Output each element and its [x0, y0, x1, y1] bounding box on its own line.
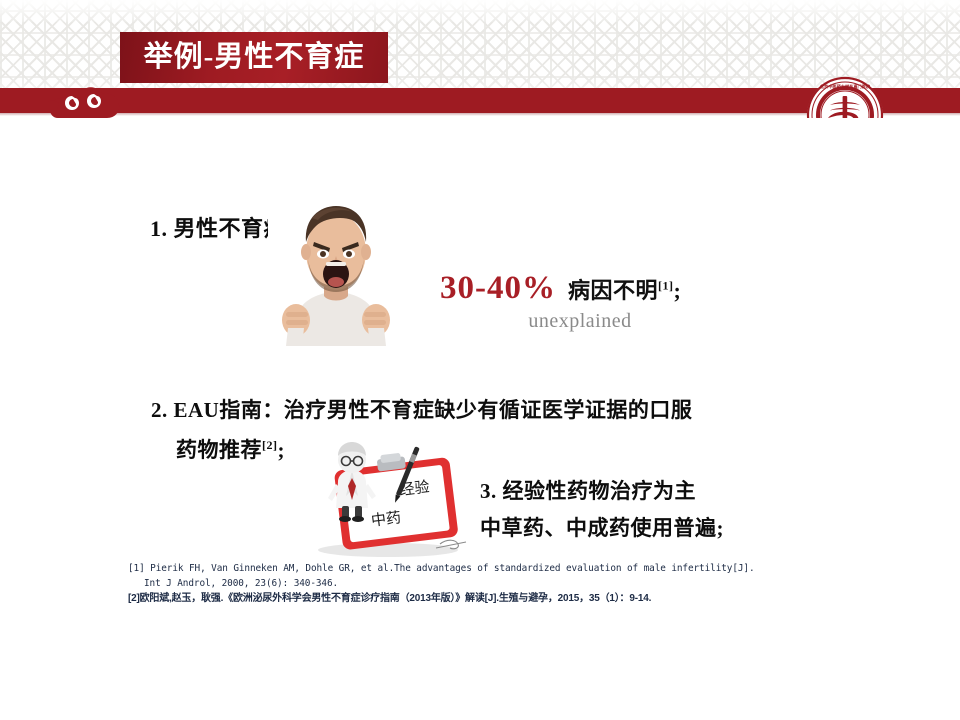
reference-1-line-2: Int J Androl, 2000, 23(6): 340-346. [128, 577, 918, 592]
university-seal-logo: 北京中医药大学东直门医院 DONGZHIMEN HOSPITAL BUCM [806, 76, 884, 118]
statistic-row: 30-40% 病因不明[1]; [440, 270, 681, 307]
item2-line1: 2. EAU指南：治疗男性不育症缺少有循证医学证据的口服 [151, 394, 692, 424]
item2-line2: 药物推荐[2]; [176, 434, 285, 464]
slide-canvas: 举例-男性不育症 北京中医药大学东直门医 [0, 0, 960, 720]
statistic-chinese-label: 病因不明[1]; [568, 273, 681, 305]
slide-title-box: 举例-男性不育症 [120, 32, 388, 83]
statistic-chinese-text: 病因不明 [568, 278, 658, 303]
references-block: [1] Pierik FH, Van Ginneken AM, Dohle GR… [128, 562, 918, 607]
reference-1-line-1: [1] Pierik FH, Van Ginneken AM, Dohle GR… [128, 562, 918, 577]
statistic-terminator: ; [674, 278, 682, 303]
statistic-english-label: unexplained [440, 310, 720, 333]
item2-line2-text: 药物推荐 [176, 438, 262, 462]
doctor-clipboard-illustration: 经验 中药 [298, 440, 484, 558]
slide-header: 举例-男性不育症 北京中医药大学东直门医 [0, 0, 960, 118]
svg-text:北京中医药大学东直门医院: 北京中医药大学东直门医院 [820, 83, 871, 90]
shouting-man-photo [268, 194, 404, 346]
statistic-reference-marker: [1] [658, 279, 674, 293]
item1-label: 1. 男性不育症 [150, 211, 286, 243]
statistic-percentage: 30-40% [440, 270, 556, 307]
item3-line2: 中草药、中成药使用普遍; [480, 512, 724, 542]
reference-2-line-1: [2]欧阳斌,赵玉，耿强.《欧洲泌尿外科学会男性不育症诊疗指南（2013年版）》… [128, 591, 918, 607]
item2-terminator: ; [278, 438, 286, 462]
item3-line1: 3. 经验性药物治疗为主 [480, 475, 696, 505]
page-title: 举例-男性不育症 [144, 43, 365, 72]
pattern-fade-top [0, 0, 960, 22]
item2-reference-marker: [2] [262, 438, 278, 452]
auspicious-cloud-motif-icon [42, 80, 164, 118]
